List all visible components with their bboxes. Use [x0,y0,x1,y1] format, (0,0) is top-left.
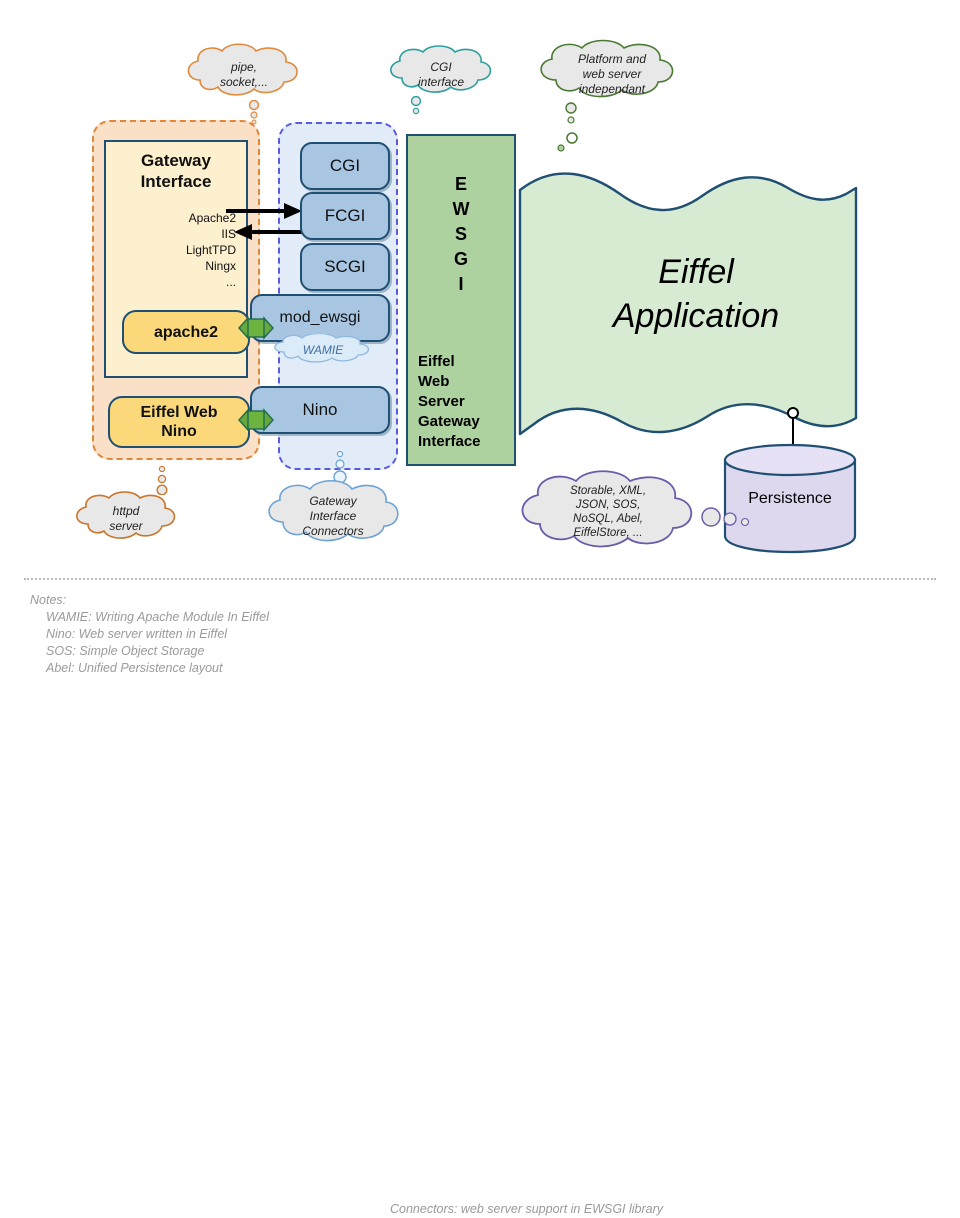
gateway-interface-title: Gateway Interface [106,150,246,192]
ewsgi-letter: S [408,222,514,247]
cloud-pipe-socket [178,42,308,104]
gateway-interface-server-list: Apache2 IIS LightTPD Ningx ... [116,210,236,290]
notes-item-connectors: Connectors: web server support in EWSGI … [390,1201,663,1218]
notes-item: Nino: Web server written in Eiffel [46,626,930,643]
ewsgi-letter: E [408,172,514,197]
gateway-interface-title-line2: Interface [106,171,246,192]
fcgi-box[interactable]: FCGI [300,192,390,240]
server-list-item: ... [116,274,236,290]
notes-item: Abel: Unified Persistence layout [46,660,930,677]
cloud-cgi-interface [382,44,500,100]
apache2-label: apache2 [154,323,218,342]
ewsgi-letter: W [408,197,514,222]
eiffel-web-nino-box[interactable]: Eiffel Web Nino [108,396,250,448]
ewsgi-panel[interactable]: E W S G I Eiffel Web Server Gateway Inte… [406,134,516,466]
wamie-label: WAMIE [288,343,358,357]
connector-plug-icon [236,405,276,435]
ewsgi-acronym: E W S G I [408,172,514,297]
nino-label: Nino [303,400,338,420]
eiffel-web-nino-line2: Nino [161,423,197,440]
gateway-interface-title-line1: Gateway [106,150,246,171]
cloud-persistence-formats [508,468,708,558]
ewsgi-expansion-line: Server [418,392,481,412]
ewsgi-expansion-line: Eiffel [418,352,481,372]
eiffel-application-label: Eiffel Application [516,250,876,338]
scgi-box[interactable]: SCGI [300,243,390,291]
notes-divider [24,578,936,580]
server-list-item: Ningx [116,258,236,274]
ewsgi-expansion: Eiffel Web Server Gateway Interface [418,352,481,452]
cgi-label: CGI [330,156,360,176]
eiffel-web-nino-line1: Eiffel Web [140,404,217,421]
cloud-httpd-server [68,490,184,546]
server-list-item: LightTPD [116,242,236,258]
server-list-item: IIS [116,226,236,242]
connector-plug-icon [236,313,276,343]
ewsgi-expansion-line: Interface [418,432,481,452]
ewsgi-letter: I [408,272,514,297]
diagram-canvas: pipe, socket,... CGI interface Platform … [0,0,960,720]
notes-header: Notes: [30,592,930,609]
cloud-platform-independant [528,38,696,106]
notes-item: SOS: Simple Object Storage [46,643,930,660]
arrow-left-icon [234,224,308,240]
mod-ewsgi-label: mod_ewsgi [280,309,361,327]
ewsgi-expansion-line: Gateway [418,412,481,432]
arrow-right-icon [226,203,302,219]
cloud-gateway-interface-connectors [258,478,408,550]
ewsgi-letter: G [408,247,514,272]
cloud-tail-persistence-formats [700,506,752,532]
scgi-label: SCGI [324,257,366,277]
fcgi-label: FCGI [325,206,366,226]
cgi-box[interactable]: CGI [300,142,390,190]
apache2-box[interactable]: apache2 [122,310,250,354]
notes-block: Notes: WAMIE: Writing Apache Module In E… [30,592,930,677]
eiffel-web-nino-label: Eiffel Web Nino [140,403,217,441]
server-list-item: Apache2 [116,210,236,226]
eiffel-application-line2: Application [516,294,876,338]
ewsgi-expansion-line: Web [418,372,481,392]
eiffel-application-line1: Eiffel [516,250,876,294]
cloud-tail-cgi-interface [406,96,426,120]
notes-item: WAMIE: Writing Apache Module In Eiffel [46,609,930,626]
panel-handle-icon [555,142,567,154]
